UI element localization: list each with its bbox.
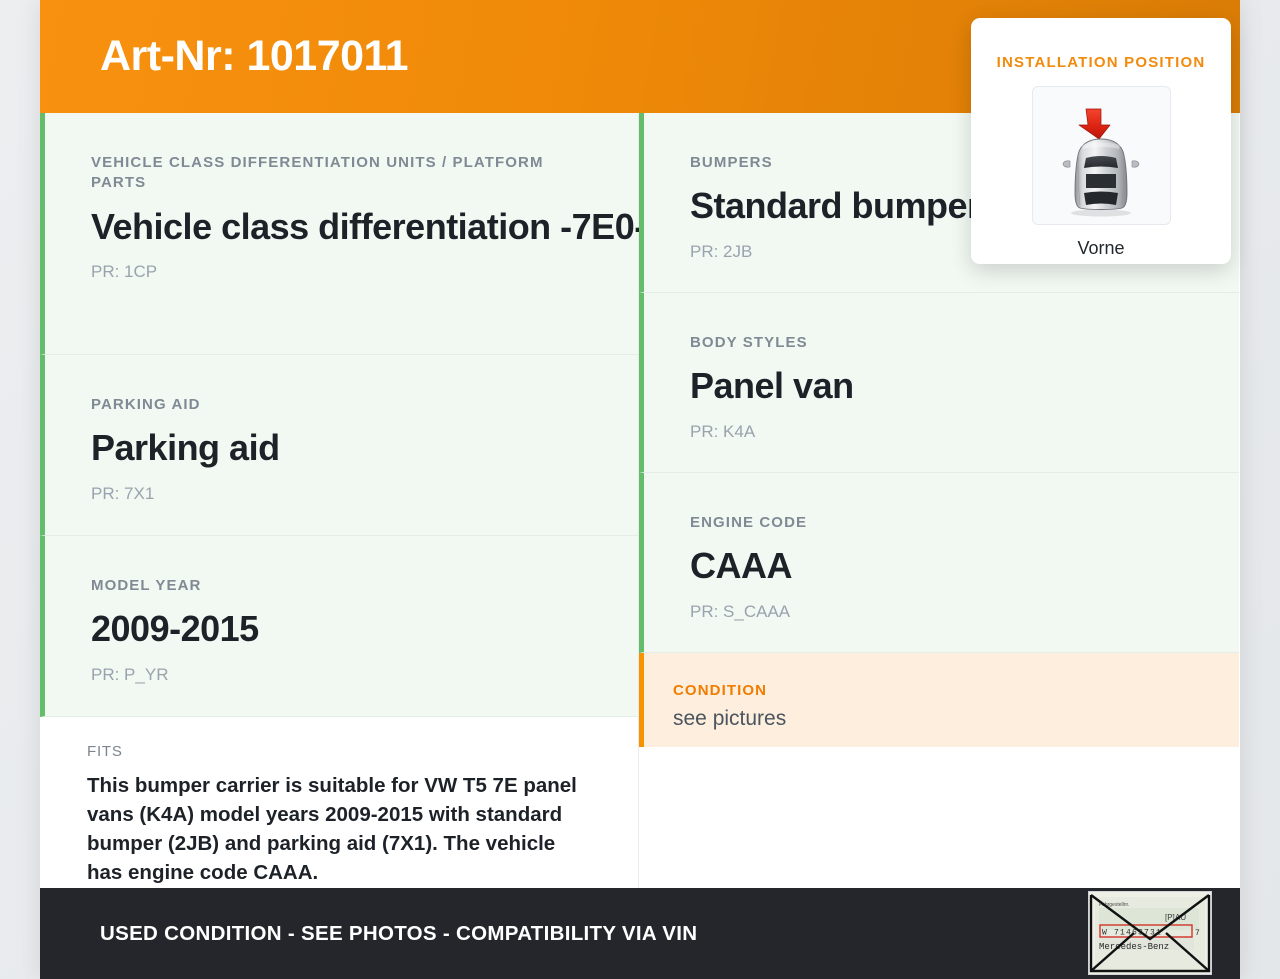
down-arrow-glyph [1079,109,1110,139]
spec-card-parking-aid: PARKING AID Parking aid PR: 7X1 [40,355,638,536]
vin-document-thumbnail[interactable]: Fahrgestellnr. W 71463731 7 AU [P] Merce… [1088,891,1212,975]
installation-position-title: INSTALLATION POSITION [971,54,1231,71]
svg-text:Mercedes-Benz: Mercedes-Benz [1099,942,1169,952]
fits-description: This bumper carrier is suitable for VW T… [87,771,592,887]
vehicle-registration-vin-document-icon: Fahrgestellnr. W 71463731 7 AU [P] Merce… [1089,892,1211,974]
spec-card-vehicle-class: VEHICLE CLASS DIFFERENTIATION UNITS / PL… [40,113,638,355]
footer-bar: USED CONDITION - SEE PHOTOS - COMPATIBIL… [40,888,1240,979]
spec-value: Parking aid [91,427,592,469]
spec-value: 2009-2015 [91,608,592,650]
spec-label: VEHICLE CLASS DIFFERENTIATION UNITS / PL… [91,153,592,194]
svg-text:7: 7 [1195,929,1200,938]
spec-label: BODY STYLES [690,333,1193,353]
spec-label: MODEL YEAR [91,576,592,596]
spec-pr-code: PR: K4A [690,422,1193,442]
fits-label: FITS [87,743,592,760]
spec-value: CAAA [690,545,1193,587]
condition-value: see pictures [673,707,1193,732]
spec-value: Panel van [690,365,1193,407]
spec-value: Vehicle class differentiation -7E0- [91,206,592,248]
installation-position-caption: Vorne [971,238,1231,259]
condition-label: CONDITION [673,681,1193,701]
installation-position-image [1032,86,1171,225]
footer-note: USED CONDITION - SEE PHOTOS - COMPATIBIL… [100,922,697,946]
spec-pr-code: PR: 7X1 [91,484,592,504]
product-spec-sheet: Art-Nr: 1017011 VEHICLE CLASS DIFFERENTI… [0,0,1280,979]
spec-label: PARKING AID [91,395,592,415]
page-title: Art-Nr: 1017011 [100,35,408,78]
spec-pr-code: PR: 1CP [91,262,592,282]
condition-card: CONDITION see pictures [639,653,1239,747]
spec-label: ENGINE CODE [690,513,1193,533]
installation-position-card[interactable]: INSTALLATION POSITION [971,18,1231,264]
spec-pr-code: PR: S_CAAA [690,602,1193,622]
car-top-view-with-front-arrow-icon [1046,95,1156,217]
spec-pr-code: PR: P_YR [91,665,592,685]
spec-card-body-styles: BODY STYLES Panel van PR: K4A [639,293,1239,473]
spec-card-engine-code: ENGINE CODE CAAA PR: S_CAAA [639,473,1239,653]
spec-card-model-year: MODEL YEAR 2009-2015 PR: P_YR [40,536,638,717]
left-column: VEHICLE CLASS DIFFERENTIATION UNITS / PL… [40,113,639,888]
